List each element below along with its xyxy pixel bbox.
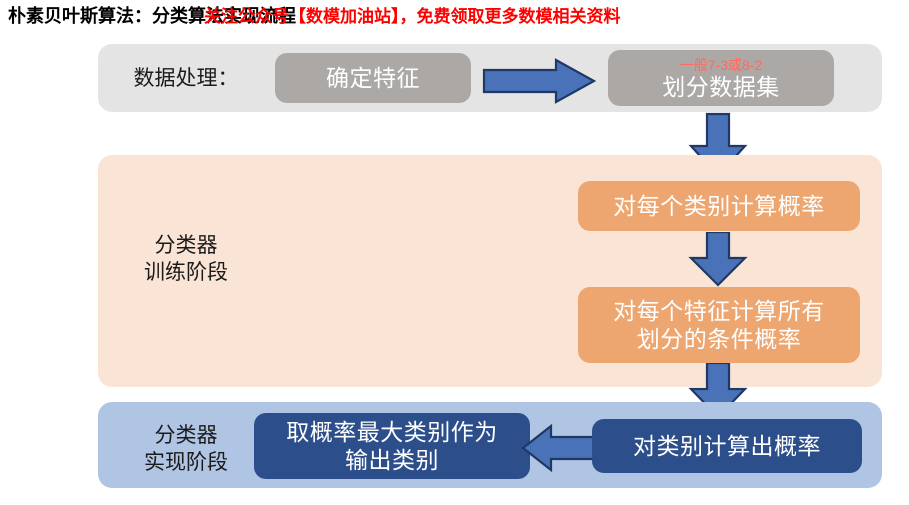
- node-class-probability[interactable]: 对每个类别计算概率: [578, 181, 860, 231]
- node-split-dataset[interactable]: 一般7-3或8-2 划分数据集: [608, 50, 834, 106]
- node-confirm-feature-label: 确定特征: [326, 64, 420, 92]
- node-split-dataset-label: 划分数据集: [662, 73, 780, 101]
- node-feature-probability-line2: 划分的条件概率: [637, 325, 802, 353]
- band-label-classifier-training-line1: 分类器: [112, 232, 260, 259]
- node-calc-probability[interactable]: 对类别计算出概率: [592, 419, 862, 473]
- node-split-dataset-note: 一般7-3或8-2: [680, 57, 762, 73]
- node-output-class-line1: 取概率最大类别作为: [286, 418, 498, 446]
- band-label-classifier-inference-line1: 分类器: [112, 422, 260, 449]
- band-label-classifier-inference-line2: 实现阶段: [112, 449, 260, 476]
- node-output-class-line2: 输出类别: [345, 446, 439, 474]
- arrow-left-icon: [521, 424, 599, 472]
- node-output-class[interactable]: 取概率最大类别作为 输出类别: [254, 413, 530, 479]
- node-calc-probability-label: 对类别计算出概率: [633, 432, 821, 460]
- diagram-canvas: 朴素贝叶斯算法：分类算法实现流程 关注公众号【数模加油站】，免费领取更多数模相关…: [0, 0, 909, 505]
- band-label-classifier-training: 分类器 训练阶段: [112, 232, 260, 286]
- band-label-classifier-inference: 分类器 实现阶段: [112, 422, 260, 476]
- node-class-probability-label: 对每个类别计算概率: [613, 192, 825, 220]
- page-title: 朴素贝叶斯算法：分类算法实现流程 关注公众号【数模加油站】，免费领取更多数模相关…: [8, 4, 903, 32]
- arrow-down-icon: [687, 232, 749, 287]
- node-confirm-feature[interactable]: 确定特征: [275, 53, 471, 103]
- band-label-data-processing: 数据处理：: [112, 65, 260, 92]
- node-feature-probability[interactable]: 对每个特征计算所有 划分的条件概率: [578, 287, 860, 363]
- node-feature-probability-line1: 对每个特征计算所有: [613, 297, 825, 325]
- page-title-promo: 关注公众号【数模加油站】，免费领取更多数模相关资料: [204, 5, 621, 29]
- band-label-classifier-training-line2: 训练阶段: [112, 259, 260, 286]
- arrow-right-icon: [482, 58, 596, 104]
